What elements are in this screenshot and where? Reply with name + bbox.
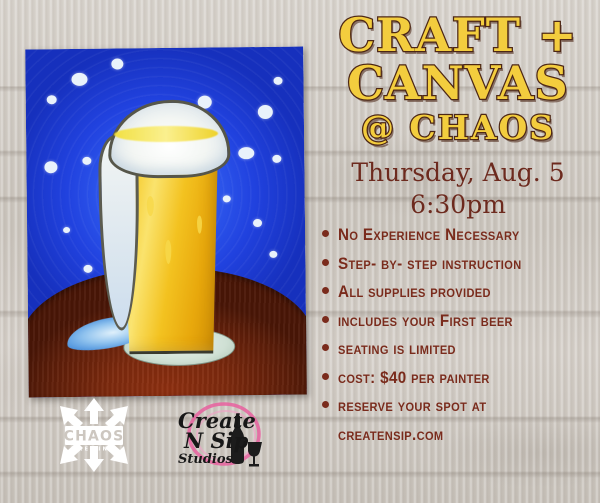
poster-text-column: CRAFT + CANVAS @ CHAOS Thursday, Aug. 5 … <box>316 0 600 503</box>
create-n-sip-logo: Create N Sip Studios <box>168 398 278 474</box>
create-n-sip-line3: Studios <box>178 452 234 467</box>
painting-snow-dot <box>253 219 262 227</box>
painting-snow-dot <box>111 58 123 69</box>
list-item-label: seating is limited <box>338 340 456 359</box>
website-url[interactable]: creatensip.com <box>338 426 579 445</box>
chaos-logo-subtext: BREWING <box>72 447 116 453</box>
poster-title-line-3: @ CHAOS <box>316 112 600 143</box>
painting-snow-dot <box>272 155 281 163</box>
bullet-dot-icon <box>322 344 329 351</box>
event-time: 6:30pm <box>316 190 600 219</box>
poster-title-line-1: CRAFT + <box>316 14 600 57</box>
poster-title-line-2: CANVAS <box>316 62 600 105</box>
chaos-burst-icon: CHAOS BREWING <box>52 398 136 472</box>
list-item-label: Step- by- step instruction <box>338 255 522 274</box>
list-item-label: includes your First beer <box>338 312 513 331</box>
create-n-sip-mark: Create N Sip Studios <box>168 398 278 474</box>
event-date: Thursday, Aug. 5 <box>316 158 600 187</box>
list-item: reserve your spot at <box>322 397 600 416</box>
painting-snow-dot <box>223 195 231 202</box>
painting-snow-dot <box>63 227 70 233</box>
list-item: seating is limited <box>322 340 600 359</box>
list-item: No Experience Necessary <box>322 226 600 245</box>
painting-snow-dot <box>273 77 282 85</box>
bullet-dot-icon <box>322 230 329 237</box>
painting-snow-dot <box>44 161 57 173</box>
create-n-sip-line2: N Sip <box>183 428 249 453</box>
painting-snow-dot <box>71 73 87 86</box>
event-details-list: No Experience Necessary Step- by- step i… <box>322 226 600 445</box>
list-item-label: reserve your spot at <box>338 397 486 416</box>
bullet-dot-icon <box>322 259 329 266</box>
bullet-dot-icon <box>322 287 329 294</box>
bullet-dot-icon <box>322 316 329 323</box>
bullet-dot-icon <box>322 373 329 380</box>
painting-snow-dot <box>83 265 92 273</box>
wine-glass-icon <box>248 442 262 467</box>
list-item: All supplies provided <box>322 283 600 302</box>
chaos-logo: CHAOS BREWING <box>52 398 136 472</box>
chaos-logo-text: CHAOS <box>64 429 125 445</box>
poster-root: CHAOS BREWING Create N Sip Studios CRAFT… <box>0 0 600 503</box>
bullet-dot-icon <box>322 401 329 408</box>
list-item-label: cost: $40 per painter <box>338 369 490 388</box>
painting-snow-dot <box>82 157 91 165</box>
list-item: Step- by- step instruction <box>322 255 600 274</box>
painting-beer-glass <box>112 99 223 350</box>
painting-snow-dot <box>47 95 57 104</box>
list-item-label: All supplies provided <box>338 283 491 302</box>
list-item-label: No Experience Necessary <box>338 226 520 245</box>
painting-snow-dot <box>269 251 277 258</box>
list-item: cost: $40 per painter <box>322 369 600 388</box>
painting-snow-dot <box>238 147 254 159</box>
painting-snow-dot <box>258 105 273 119</box>
beer-painting-canvas <box>25 47 307 398</box>
list-item: includes your First beer <box>322 312 600 331</box>
